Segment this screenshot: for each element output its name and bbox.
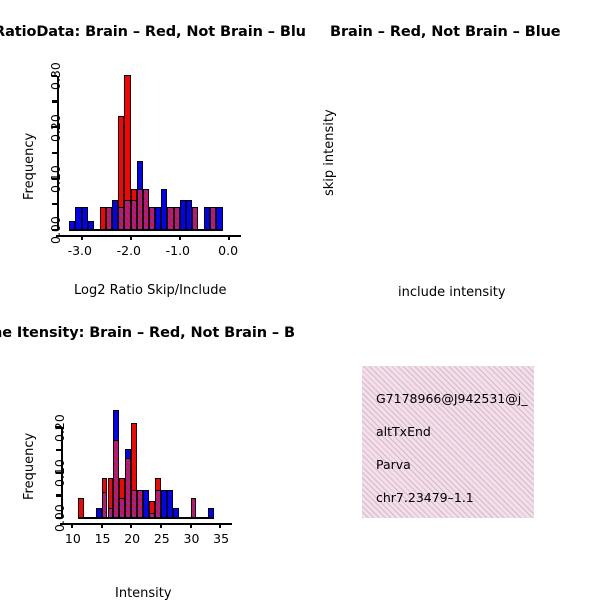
- panel-intensity-scatter: Brain – Red, Not Brain – Blue skip inten…: [300, 0, 600, 305]
- scatter-plot-area: 10152025303550100150: [300, 0, 600, 305]
- info-line-id: G7178966@J942531@j_: [376, 391, 527, 406]
- histogram-bar: [192, 207, 198, 230]
- x-axis-tick-label: -1.0: [166, 243, 190, 258]
- y-axis-tick: [52, 152, 57, 154]
- x-axis-tick: [101, 523, 103, 528]
- x-axis-line: [56, 235, 241, 237]
- histogram-bar: [118, 207, 124, 230]
- y-axis-tick-label: 0.10: [48, 165, 63, 193]
- x-axis-tick: [130, 235, 132, 240]
- x-axis-tick-label: -2.0: [117, 243, 141, 258]
- x-axis-tick-label: 25: [154, 531, 170, 546]
- y-axis-tick: [52, 203, 57, 205]
- y-axis-tick-label: 0.30: [48, 62, 63, 90]
- y-axis-tick-label: 0.20: [48, 114, 63, 142]
- histogram-bar: [131, 200, 137, 230]
- y-axis-tick: [56, 449, 61, 451]
- y-axis-tick-label: 0.00: [52, 505, 67, 533]
- histogram-bar: [69, 221, 75, 230]
- y-axis-tick: [52, 100, 57, 102]
- histogram-bar: [78, 498, 84, 518]
- gene-info-panel: G7178966@J942531@j_ altTxEnd Parva chr7.…: [362, 366, 534, 518]
- x-axis-tick: [71, 523, 73, 528]
- x-axis-tick: [190, 523, 192, 528]
- info-line-gene-symbol: Parva: [376, 457, 411, 472]
- histogram-bar: [173, 508, 179, 518]
- x-axis-tick-label: 10: [65, 531, 81, 546]
- ratio-histogram-plot-area: 0.000.100.200.30-3.0-2.0-1.00.0: [0, 0, 300, 305]
- y-axis-tick-label: 0.10: [52, 459, 67, 487]
- info-line-pval: Pval: 2.000000: [376, 516, 470, 518]
- info-line-event-type: altTxEnd: [376, 424, 431, 439]
- histogram-bar: [174, 207, 180, 230]
- y-axis-tick: [56, 494, 61, 496]
- histogram-bar: [106, 207, 112, 230]
- y-axis-tick-label: 0.20: [52, 414, 67, 442]
- histogram-bar: [108, 508, 114, 518]
- x-axis-tick-label: 15: [95, 531, 111, 546]
- x-axis-tick: [179, 235, 181, 240]
- histogram-bar: [204, 207, 210, 230]
- x-axis-tick: [130, 523, 132, 528]
- x-axis-tick-label: 35: [213, 531, 229, 546]
- x-axis-tick: [228, 235, 230, 240]
- plot-canvas: RatioData: Brain – Red, Not Brain – Blu …: [0, 0, 600, 600]
- histogram-bar: [191, 498, 197, 518]
- x-axis-tick: [160, 523, 162, 528]
- panel-gene-intensity-histogram: ne Itensity: Brain – Red, Not Brain – B …: [0, 305, 300, 600]
- histogram-bar: [155, 207, 161, 230]
- histogram-bar: [149, 513, 155, 518]
- x-axis-tick-label: 0.0: [218, 243, 238, 258]
- gene-intensity-plot-area: 0.000.100.20101520253035: [0, 305, 300, 600]
- x-axis-tick-label: 20: [124, 531, 140, 546]
- x-axis-tick: [219, 523, 221, 528]
- x-axis-line: [60, 523, 232, 525]
- histogram-bar: [119, 498, 125, 518]
- histogram-bar: [100, 207, 106, 230]
- panel-ratio-histogram: RatioData: Brain – Red, Not Brain – Blu …: [0, 0, 300, 305]
- x-axis-tick-label: -3.0: [68, 243, 92, 258]
- histogram-bar: [88, 221, 94, 230]
- y-axis-tick-label: 0.00: [48, 217, 63, 245]
- x-axis-tick: [81, 235, 83, 240]
- histogram-bar: [216, 207, 222, 230]
- y-axis-line: [57, 76, 59, 230]
- x-axis-tick-label: 30: [184, 531, 200, 546]
- histogram-bar: [96, 508, 102, 518]
- histogram-bar: [208, 508, 214, 518]
- info-line-locus: chr7.23479–1.1: [376, 490, 474, 505]
